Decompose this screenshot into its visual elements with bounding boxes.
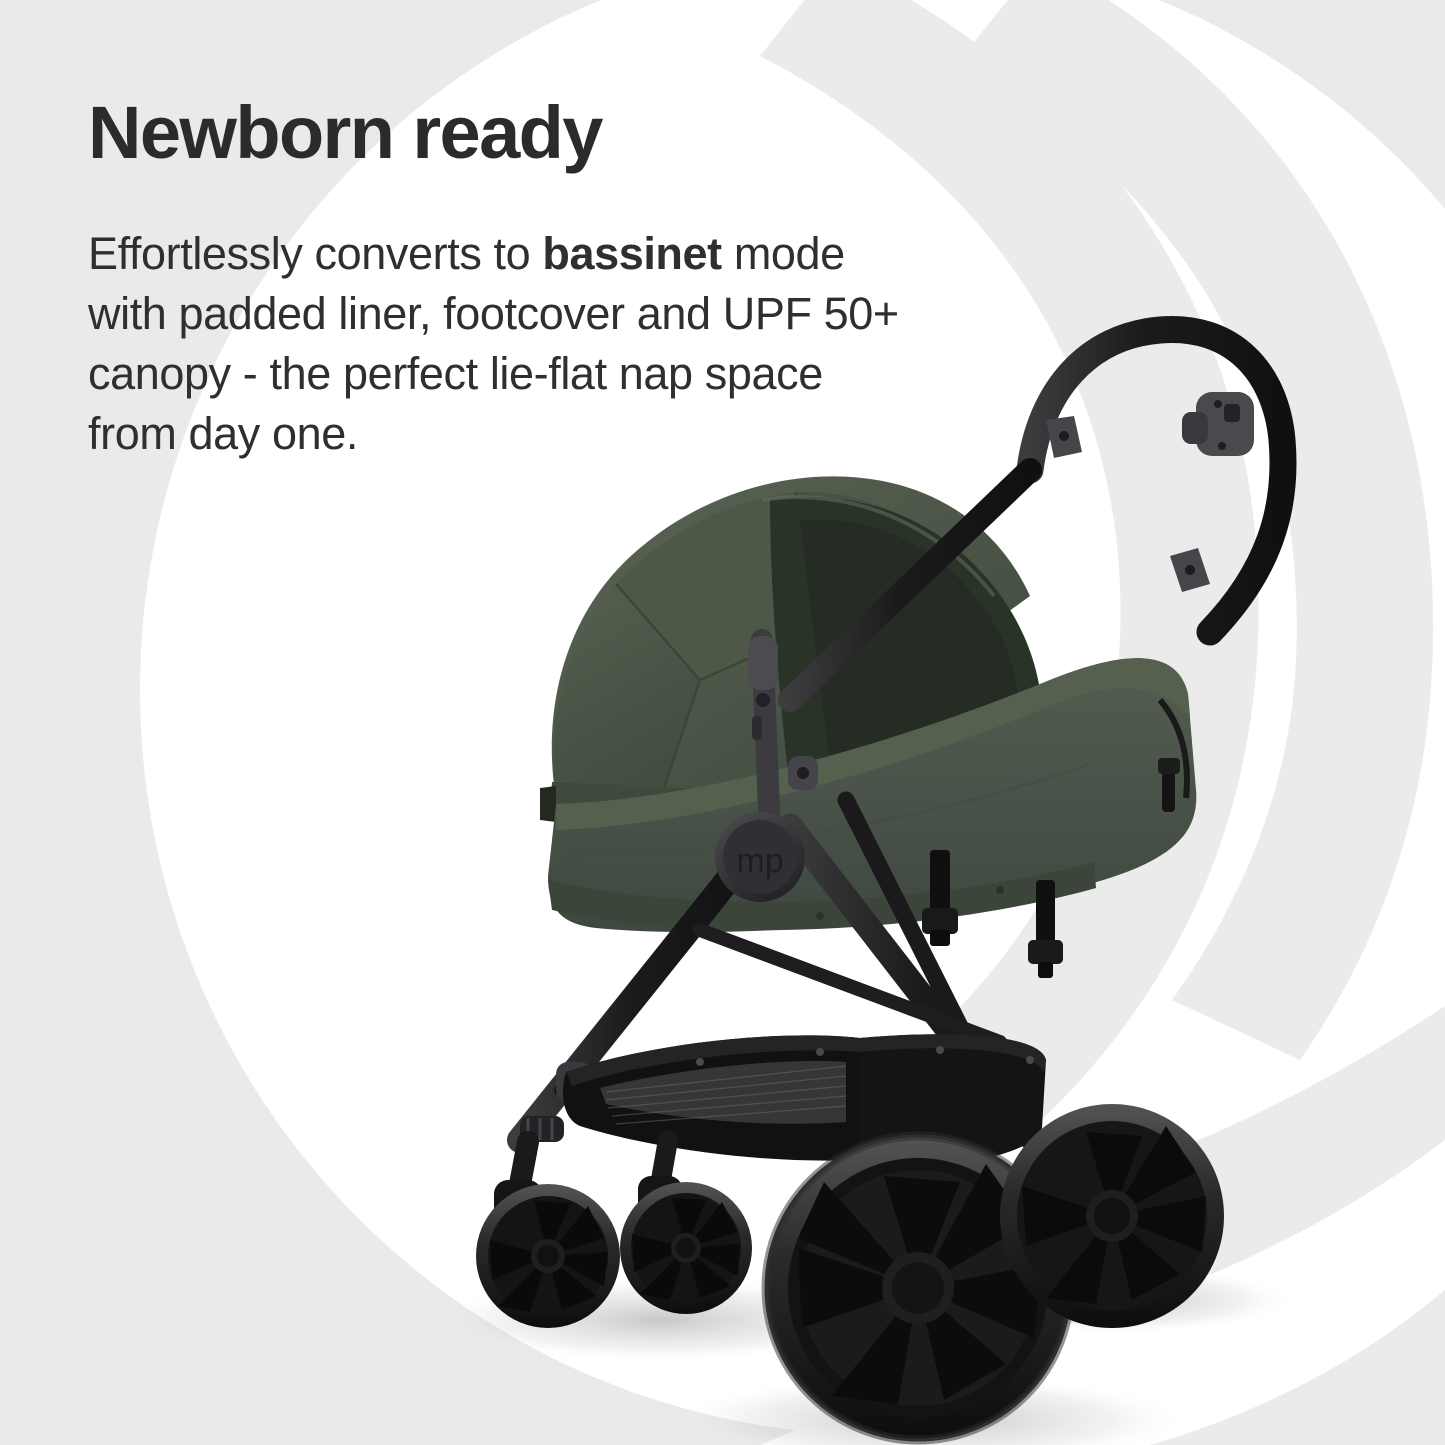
frame-cross-strut: [700, 930, 1000, 1042]
body-line3: canopy - the perfect lie-flat nap space: [88, 348, 823, 399]
product-feature-card: mp: [0, 0, 1445, 1445]
copy-block: Newborn ready Effortlessly converts to b…: [88, 96, 1088, 463]
body-line1-before: Effortlessly converts to: [88, 228, 542, 279]
handle-height-adjust: [1182, 392, 1254, 456]
frame-center-hub: mp: [715, 812, 805, 902]
zipper-pull: [1162, 772, 1175, 812]
brand-monogram: mp: [736, 842, 783, 880]
body-line4: from day one.: [88, 408, 358, 459]
wheel-front-far: [620, 1140, 752, 1314]
body-paragraph: Effortlessly converts to bassinet mode w…: [88, 224, 1088, 463]
wheel-rear-far: [1000, 1104, 1224, 1328]
body-line2: with padded liner, footcover and UPF 50+: [88, 288, 899, 339]
body-line1-after: mode: [722, 228, 845, 279]
body-emphasis-bassinet: bassinet: [542, 228, 721, 279]
page-title: Newborn ready: [88, 96, 1088, 170]
wheel-front-near: [476, 1142, 620, 1328]
